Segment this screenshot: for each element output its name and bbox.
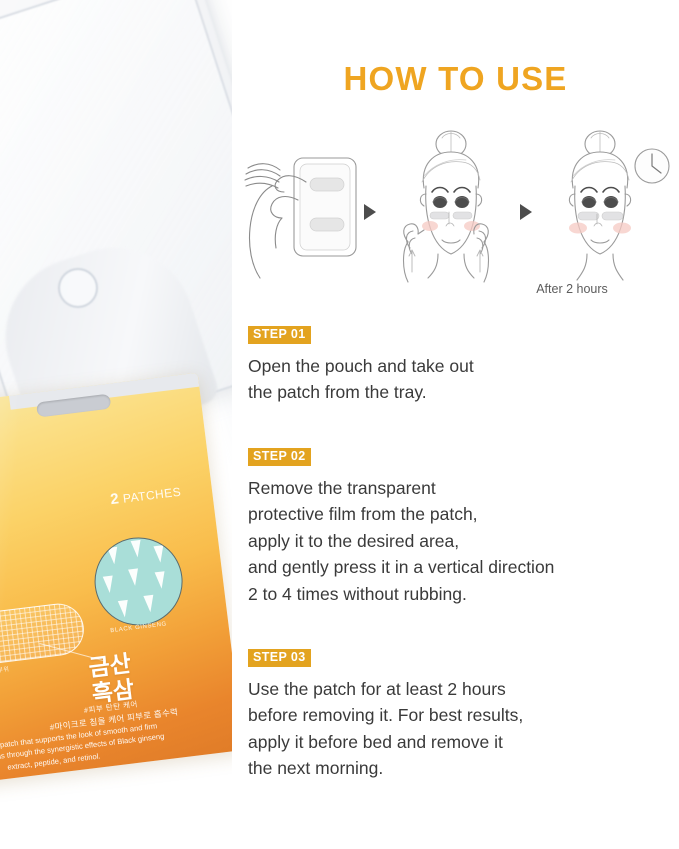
illustration-step-3 bbox=[542, 130, 677, 305]
eye-patch-illustration bbox=[0, 601, 87, 676]
eye-patch-caption: 마이크로 침을 케어 피부 고민 부위 bbox=[0, 664, 10, 685]
instructions-panel: HOW TO USE bbox=[232, 0, 679, 849]
foil-pouch: PEPTIDE MICRO ve atch 2 PATCHES BLACK GI… bbox=[0, 373, 232, 792]
microneedle-icon bbox=[103, 576, 115, 594]
step-text-3: Use the patch for at least 2 hours befor… bbox=[248, 676, 668, 782]
microneedle-icon bbox=[107, 547, 119, 565]
illustration-strip: After 2 hours bbox=[236, 130, 676, 305]
step-badge-3: STEP 03 bbox=[248, 649, 311, 667]
pouch-count-unit: PATCHES bbox=[122, 485, 182, 506]
microneedle-icon bbox=[143, 595, 155, 613]
pouch-net-weight: 17 mg * 2 patches / 0.001 oz. bbox=[0, 777, 158, 792]
illustration-step-2 bbox=[386, 130, 516, 305]
microneedle-icon bbox=[155, 571, 167, 589]
microneedle-detail-circle bbox=[90, 532, 188, 630]
pouch-patch-count: 2 PATCHES bbox=[109, 483, 182, 509]
pouch-light-reflection bbox=[0, 373, 24, 792]
after-duration-caption: After 2 hours bbox=[482, 282, 662, 296]
product-photograph: PEPTIDE MICRO ve atch 2 PATCHES BLACK GI… bbox=[0, 0, 232, 849]
arrow-icon bbox=[520, 204, 532, 220]
step-text-1: Open the pouch and take out the patch fr… bbox=[248, 353, 668, 406]
microneedle-icon bbox=[153, 545, 165, 563]
step-block-2: STEP 02 Remove the transparent protectiv… bbox=[248, 447, 668, 607]
arrow-icon bbox=[364, 204, 376, 220]
microneedle-icon bbox=[131, 540, 143, 558]
page-title: HOW TO USE bbox=[232, 60, 679, 98]
pouch-description: It is a micro eye patch that supports th… bbox=[0, 719, 168, 781]
pouch-count-number: 2 bbox=[109, 490, 120, 508]
step-block-1: STEP 01 Open the pouch and take out the … bbox=[248, 325, 668, 406]
step-badge-1: STEP 01 bbox=[248, 326, 311, 344]
step-badge-2: STEP 02 bbox=[248, 448, 311, 466]
microneedle-icon bbox=[118, 600, 130, 618]
step-text-2: Remove the transparent protective film f… bbox=[248, 475, 668, 608]
step-block-3: STEP 03 Use the patch for at least 2 hou… bbox=[248, 648, 668, 782]
microneedle-icon bbox=[128, 568, 140, 586]
tray-notch-circle bbox=[58, 268, 98, 308]
